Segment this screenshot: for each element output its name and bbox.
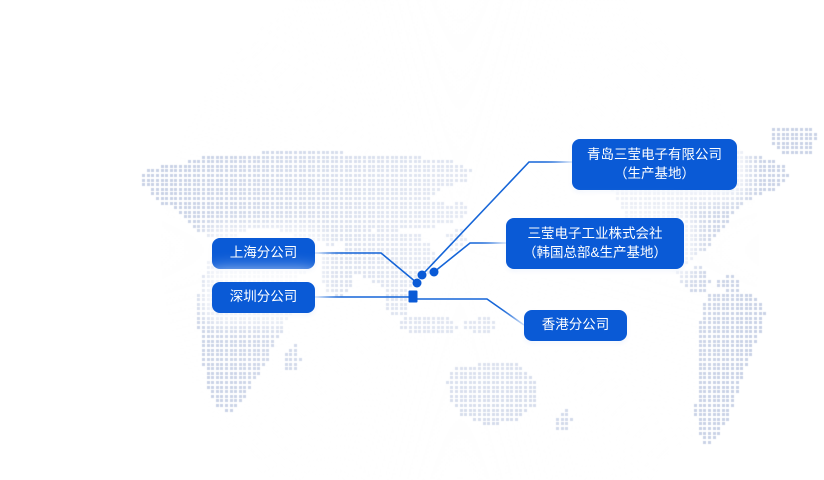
label-shenzhen[interactable]: 深圳分公司 — [212, 282, 315, 313]
label-shenzhen-line1: 深圳分公司 — [230, 288, 298, 306]
world-map-dotted — [0, 0, 824, 480]
label-hongkong-line1: 香港分公司 — [542, 316, 610, 334]
label-korea-hq-line2: （韩国总部&生产基地） — [523, 244, 667, 262]
label-shanghai[interactable]: 上海分公司 — [212, 238, 315, 269]
label-qingdao-line1: 青岛三莹电子有限公司 — [587, 146, 722, 164]
label-qingdao-line2: （生产基地） — [614, 165, 695, 183]
label-korea-hq[interactable]: 三莹电子工业株式会社（韩国总部&生产基地） — [506, 218, 684, 269]
label-qingdao[interactable]: 青岛三莹电子有限公司（生产基地） — [572, 139, 737, 190]
label-hongkong[interactable]: 香港分公司 — [524, 310, 627, 341]
label-shanghai-line1: 上海分公司 — [230, 244, 298, 262]
map-infographic: 青岛三莹电子有限公司（生产基地）三莹电子工业株式会社（韩国总部&生产基地）上海分… — [0, 0, 824, 480]
label-korea-hq-line1: 三莹电子工业株式会社 — [528, 225, 663, 243]
